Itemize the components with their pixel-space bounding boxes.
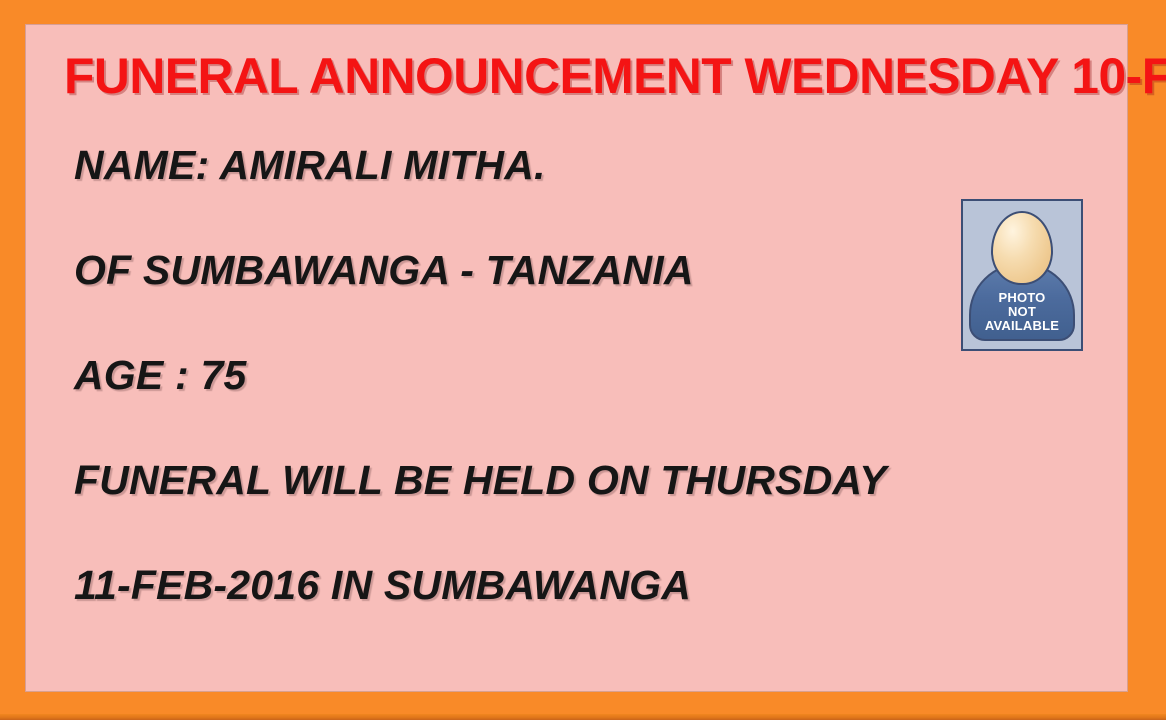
- avatar-head-shape: [991, 211, 1053, 285]
- detail-line-date: 11-FEB-2016 IN SUMBAWANGA: [74, 563, 974, 607]
- detail-line-age: AGE : 75: [74, 353, 974, 397]
- avatar-caption: PHOTO NOT AVAILABLE: [963, 291, 1081, 333]
- avatar: PHOTO NOT AVAILABLE: [963, 201, 1081, 349]
- avatar-caption-line-1: PHOTO: [963, 291, 1081, 305]
- announcement-body: NAME: AMIRALI MITHA. OF SUMBAWANGA - TAN…: [74, 143, 974, 607]
- announcement-card: FUNERAL ANNOUNCEMENT WEDNESDAY 10-FEB-20…: [25, 24, 1128, 692]
- avatar-caption-line-2: NOT: [963, 305, 1081, 319]
- page-title: FUNERAL ANNOUNCEMENT WEDNESDAY 10-FEB-20…: [64, 47, 1094, 105]
- detail-line-location: OF SUMBAWANGA - TANZANIA: [74, 248, 974, 292]
- frame-bottom-edge: [0, 714, 1166, 720]
- announcement-poster: FUNERAL ANNOUNCEMENT WEDNESDAY 10-FEB-20…: [0, 0, 1166, 720]
- person-placeholder-icon: PHOTO NOT AVAILABLE: [961, 199, 1083, 351]
- detail-line-funeral: FUNERAL WILL BE HELD ON THURSDAY: [74, 458, 974, 502]
- detail-line-name: NAME: AMIRALI MITHA.: [74, 143, 974, 187]
- avatar-caption-line-3: AVAILABLE: [963, 319, 1081, 333]
